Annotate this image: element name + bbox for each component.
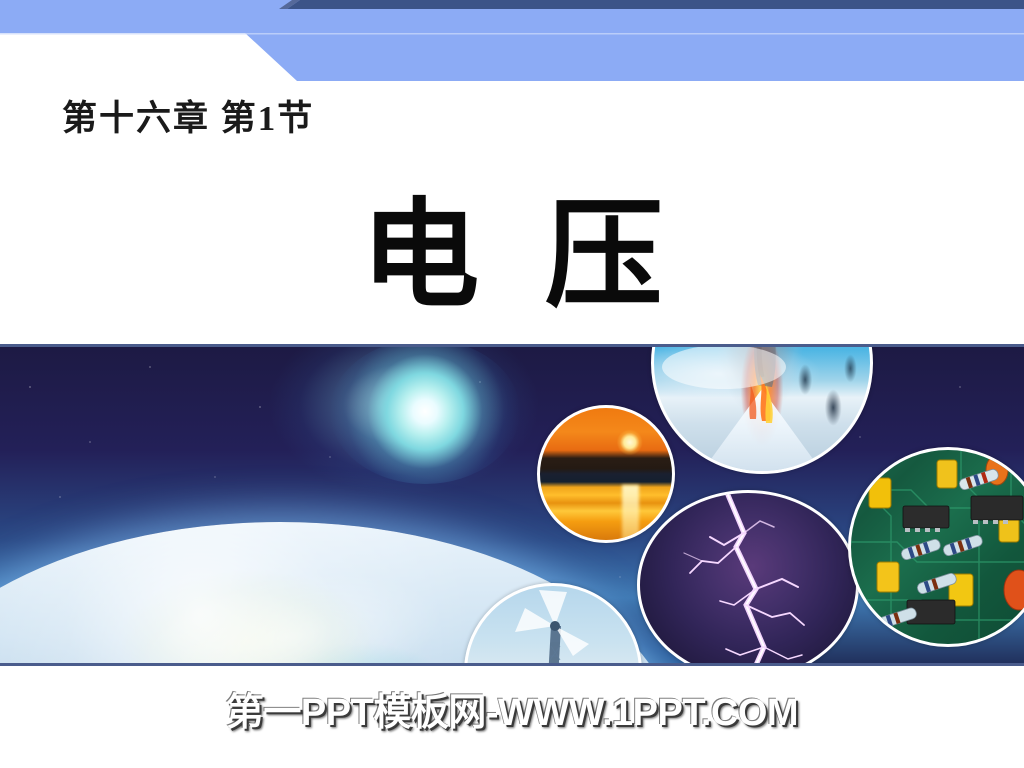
- wind-turbine-large: [515, 590, 589, 666]
- page-title: 电 压: [0, 195, 1024, 319]
- photo-circle-circuit-board: [848, 447, 1024, 647]
- light-blue-band: [0, 0, 1024, 33]
- image-band-inner: [0, 347, 1024, 666]
- chapter-section-subtitle: 第十六章 第1节: [62, 90, 314, 141]
- volcano-low-cloud: [662, 345, 786, 389]
- photo-circle-lightning: [637, 490, 859, 666]
- photo-circle-volcano: [651, 344, 873, 474]
- sun-water-reflection: [622, 485, 639, 543]
- photo-circle-wind-turbines: [464, 583, 642, 666]
- navy-angled-strip: [287, 0, 1024, 9]
- sun-flare-glow: [330, 344, 520, 484]
- lightning-bolt: [684, 495, 804, 666]
- site-watermark: 第一PPT模板网-WWW.1PPT.COM: [0, 681, 1024, 736]
- band-divider: [0, 33, 1024, 35]
- image-band: [0, 344, 1024, 666]
- light-blue-angled-block: [245, 33, 1024, 81]
- navy-strip-bevel: [279, 0, 300, 9]
- presentation-slide: 第十六章 第1节 电 压: [0, 0, 1024, 768]
